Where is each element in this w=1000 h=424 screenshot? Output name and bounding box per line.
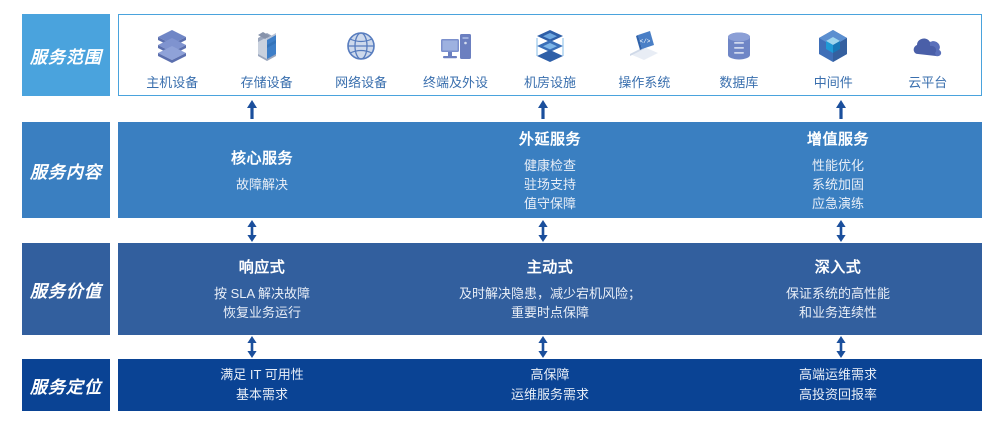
connector-arrow-updown-1 [245,220,259,242]
positioning-columns: 满足 IT 可用性 基本需求 高保障 运维服务需求 高端运维需求 高投资回报率 [118,359,982,411]
row-label-service-value: 服务价值 [22,243,110,335]
scope-item-os[interactable]: </> 操作系统 [602,19,686,91]
scope-item-label: 操作系统 [618,72,670,91]
connector-arrow-up-2 [536,99,550,119]
row-label-text: 服务价值 [30,277,102,302]
content-column-extended[interactable]: 外延服务 健康检查 驻场支持 值守保障 [406,122,694,218]
column-line: 值守保障 [524,194,576,213]
service-value-panel: 响应式 按 SLA 解决故障 恢复业务运行 主动式 及时解决隐患，减少宕机风险；… [118,243,982,335]
content-columns: 核心服务 故障解决 外延服务 健康检查 驻场支持 值守保障 增值服务 性能优化 … [118,122,982,218]
connector-arrow-updown-4 [245,336,259,358]
column-line: 高端运维需求 [799,365,877,385]
globe-network-icon [341,26,381,66]
service-framework-diagram: 服务范围 主机设备 [0,0,1000,424]
scope-item-storage[interactable]: 存储设备 [225,19,309,91]
column-line: 健康检查 [524,156,576,175]
connector-arrow-updown-3 [834,220,848,242]
column-line: 高保障 [530,365,569,385]
scope-item-label: 云平台 [908,72,947,91]
column-line: 驻场支持 [524,175,576,194]
scope-item-cloud[interactable]: 云平台 [886,19,970,91]
column-title: 增值服务 [807,128,869,149]
scope-item-label: 网络设备 [335,72,387,91]
column-line: 按 SLA 解决故障 [214,284,310,303]
column-line: 重要时点保障 [511,303,589,322]
laptop-os-icon: </> [624,26,664,66]
column-title: 核心服务 [231,147,293,168]
scope-item-network[interactable]: 网络设备 [319,19,403,91]
icon-strip: 主机设备 存储设备 [119,15,981,95]
cloud-platform-icon [908,26,948,66]
column-line: 和业务连续性 [799,303,877,322]
connector-arrow-up-1 [245,99,259,119]
value-column-responsive[interactable]: 响应式 按 SLA 解决故障 恢复业务运行 [118,243,406,335]
connector-arrow-updown-5 [536,336,550,358]
column-line: 恢复业务运行 [223,303,301,322]
row-label-text: 服务范围 [30,43,102,68]
service-positioning-panel: 满足 IT 可用性 基本需求 高保障 运维服务需求 高端运维需求 高投资回报率 [118,359,982,411]
positioning-column-assured[interactable]: 高保障 运维服务需求 [406,359,694,411]
desktop-pc-icon [436,26,476,66]
scope-item-label: 主机设备 [146,72,198,91]
middleware-cube-icon [813,26,853,66]
service-scope-panel: 主机设备 存储设备 [118,14,982,96]
value-columns: 响应式 按 SLA 解决故障 恢复业务运行 主动式 及时解决隐患，减少宕机风险；… [118,243,982,335]
data-center-facility-icon [530,26,570,66]
column-line: 运维服务需求 [511,385,589,405]
row-label-service-content: 服务内容 [22,122,110,218]
column-line: 满足 IT 可用性 [220,365,304,385]
value-column-proactive[interactable]: 主动式 及时解决隐患，减少宕机风险； 重要时点保障 [406,243,694,335]
connector-arrow-updown-6 [834,336,848,358]
scope-item-middleware[interactable]: 中间件 [791,19,875,91]
scope-item-label: 中间件 [814,72,853,91]
column-line: 系统加固 [812,175,864,194]
column-line: 故障解决 [236,175,288,194]
column-line: 及时解决隐患，减少宕机风险； [459,284,641,303]
service-content-panel: 核心服务 故障解决 外延服务 健康检查 驻场支持 值守保障 增值服务 性能优化 … [118,122,982,218]
scope-item-facility[interactable]: 机房设施 [508,19,592,91]
positioning-column-basic[interactable]: 满足 IT 可用性 基本需求 [118,359,406,411]
row-label-service-positioning: 服务定位 [22,359,110,411]
positioning-column-premium[interactable]: 高端运维需求 高投资回报率 [694,359,982,411]
server-stack-icon [152,26,192,66]
content-column-core[interactable]: 核心服务 故障解决 [118,122,406,218]
column-line: 基本需求 [236,385,288,405]
svg-text:</>: </> [640,38,651,45]
database-cylinder-icon [719,26,759,66]
row-label-text: 服务内容 [30,158,102,183]
column-line: 应急演练 [812,194,864,213]
column-title: 深入式 [815,256,862,277]
connector-arrow-up-3 [834,99,848,119]
storage-array-icon [247,26,287,66]
column-line: 性能优化 [812,156,864,175]
connector-arrow-updown-2 [536,220,550,242]
row-label-text: 服务定位 [30,373,102,398]
scope-item-label: 终端及外设 [423,72,488,91]
scope-item-label: 数据库 [719,72,758,91]
value-column-deep[interactable]: 深入式 保证系统的高性能 和业务连续性 [694,243,982,335]
scope-item-database[interactable]: 数据库 [697,19,781,91]
row-label-service-scope: 服务范围 [22,14,110,96]
scope-item-host[interactable]: 主机设备 [130,19,214,91]
content-column-valueadd[interactable]: 增值服务 性能优化 系统加固 应急演练 [694,122,982,218]
scope-item-terminal[interactable]: 终端及外设 [414,19,498,91]
column-line: 高投资回报率 [799,385,877,405]
column-line: 保证系统的高性能 [786,284,890,303]
column-title: 外延服务 [519,128,581,149]
column-title: 响应式 [239,256,286,277]
scope-item-label: 存储设备 [241,72,293,91]
scope-item-label: 机房设施 [524,72,576,91]
column-title: 主动式 [527,256,574,277]
